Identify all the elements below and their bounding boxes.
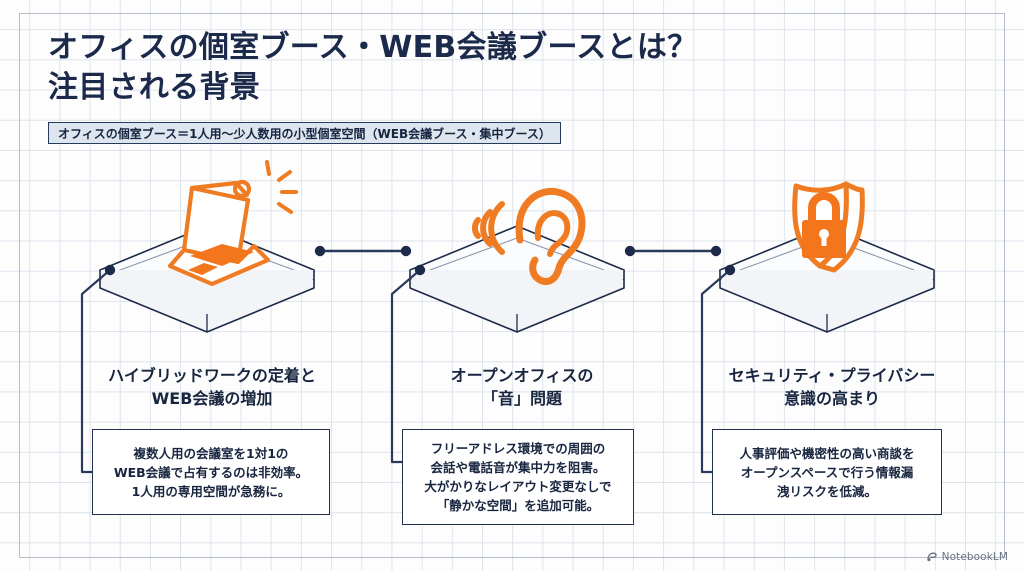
shield-lock-icon (768, 168, 918, 298)
page-title: オフィスの個室ブース・WEB会議ブースとは？ 注目される背景 (48, 28, 808, 108)
column-body-box-2: フリーアドレス環境での周囲の 会話や電話音が集中力を阻害。 大がかりなレイアウト… (402, 429, 634, 525)
column-heading-2: オープンオフィスの 「音」問題 (372, 365, 672, 410)
subtitle-banner-label: オフィスの個室ブース＝1人用〜少人数用の小型個室空間（WEB会議ブース・集中ブー… (58, 125, 551, 142)
column-body-box-1: 複数人用の会議室を1対1の WEB会議で占有するのは非効率。 1人用の専用空間が… (92, 429, 330, 515)
infographic-slide: オフィスの個室ブース・WEB会議ブースとは？ 注目される背景 オフィスの個室ブー… (0, 0, 1024, 571)
connector-1-2 (314, 244, 412, 258)
notebooklm-watermark: NotebookLM (926, 551, 1008, 563)
notebooklm-label: NotebookLM (942, 551, 1008, 563)
subtitle-banner: オフィスの個室ブース＝1人用〜少人数用の小型個室空間（WEB会議ブース・集中ブー… (48, 122, 561, 144)
laptop-icon (150, 162, 300, 292)
column-heading-3: セキュリティ・プライバシー 意識の高まり (682, 365, 982, 410)
column-heading-1: ハイブリッドワークの定着と WEB会議の増加 (62, 365, 362, 410)
column-body-box-3: 人事評価や機密性の高い商談を オープンスペースで行う情報漏 洩リスクを低減。 (712, 429, 942, 515)
ear-sound-icon (462, 178, 612, 308)
connector-2-3 (624, 244, 722, 258)
notebooklm-logo-icon (926, 551, 938, 563)
